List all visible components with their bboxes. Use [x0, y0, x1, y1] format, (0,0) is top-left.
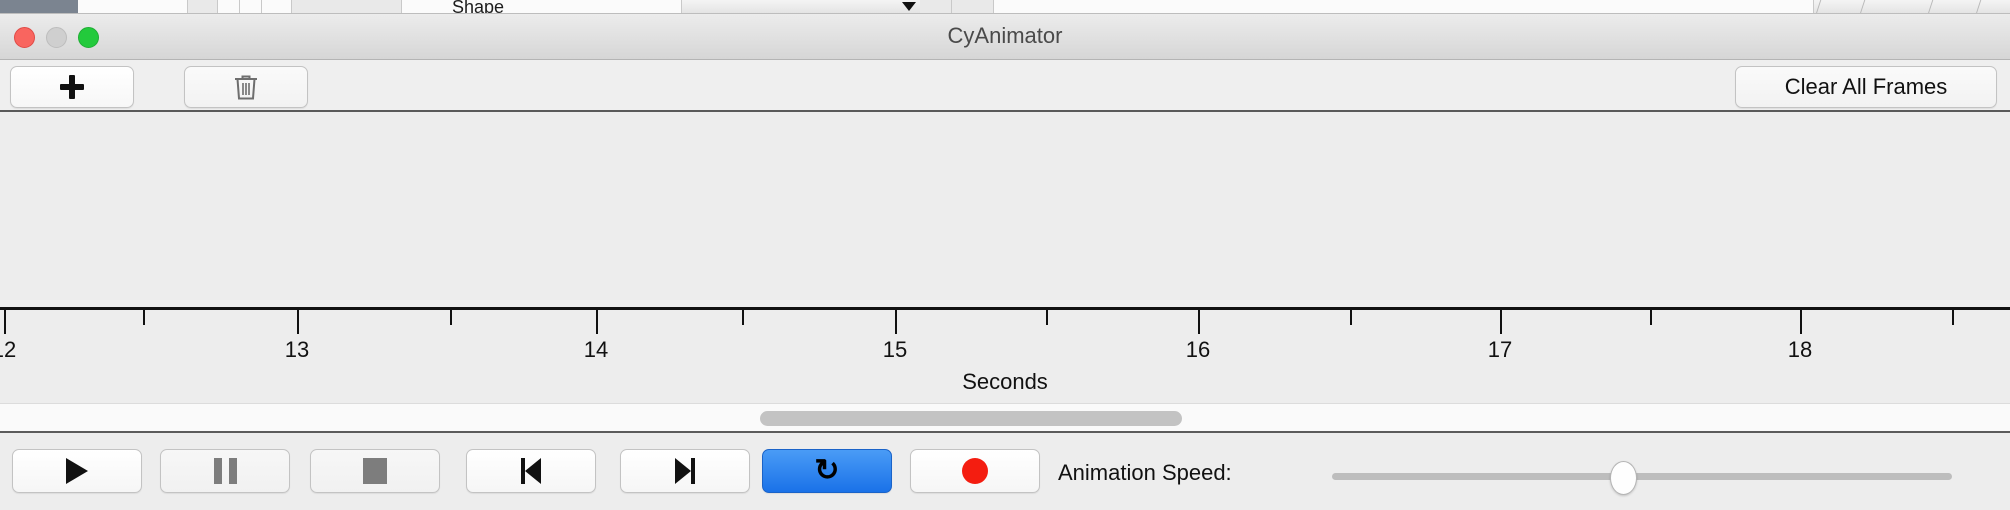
- ruler-tick-label: 15: [883, 337, 907, 363]
- animation-speed-label: Animation Speed:: [1058, 460, 1232, 486]
- trash-icon: [233, 73, 259, 101]
- ruler-tick: [596, 310, 598, 334]
- stop-button[interactable]: [310, 449, 440, 493]
- background-cell: [218, 0, 240, 14]
- background-divider: [1928, 0, 1934, 14]
- loop-icon: ↻: [814, 456, 839, 486]
- toolbar: Clear All Frames: [0, 60, 2010, 112]
- background-caret-icon: [902, 2, 916, 11]
- plus-icon: [60, 75, 84, 99]
- slider-track: [1332, 473, 1952, 480]
- background-window-label: Shape: [452, 0, 504, 14]
- stop-icon: [363, 458, 387, 484]
- background-cell: [262, 0, 292, 14]
- ruler-tick-label: 14: [584, 337, 608, 363]
- ruler-tick: [450, 310, 452, 325]
- background-divider: [1860, 0, 1866, 14]
- background-window-strip: Shape: [0, 0, 2010, 14]
- background-cell: [402, 0, 682, 14]
- skip-forward-icon: [675, 458, 695, 484]
- ruler-tick-label: 17: [1488, 337, 1512, 363]
- loop-button[interactable]: ↻: [762, 449, 892, 493]
- ruler-tick: [1350, 310, 1352, 325]
- record-icon: [962, 458, 988, 484]
- clear-all-frames-label: Clear All Frames: [1785, 74, 1948, 100]
- background-cell: [920, 0, 952, 14]
- delete-frame-button[interactable]: [184, 66, 308, 108]
- ruler-tick-label: 16: [1186, 337, 1210, 363]
- background-cell: [994, 0, 1814, 14]
- background-cell: [292, 0, 402, 14]
- playback-controls: ↻ Animation Speed:: [0, 435, 2010, 510]
- background-cell: [240, 0, 262, 14]
- ruler-tick: [1650, 310, 1652, 325]
- background-cell: [952, 0, 994, 14]
- ruler-tick: [895, 310, 897, 334]
- ruler-tick-label: 13: [285, 337, 309, 363]
- clear-all-frames-button[interactable]: Clear All Frames: [1735, 66, 1997, 108]
- record-button[interactable]: [910, 449, 1040, 493]
- ruler-tick: [1046, 310, 1048, 325]
- ruler-tick: [1952, 310, 1954, 325]
- ruler-tick-label: 18: [1788, 337, 1812, 363]
- ruler-baseline: [0, 307, 2010, 310]
- background-window-tab: [0, 0, 78, 14]
- frame-timeline[interactable]: MCM1: [0, 112, 2010, 307]
- ruler-axis-title: Seconds: [0, 369, 2010, 395]
- pause-button[interactable]: [160, 449, 290, 493]
- timeline-ruler: 12 13 14 15 16 17 18 Seconds: [0, 307, 2010, 403]
- background-divider: [1816, 0, 1822, 14]
- play-icon: [66, 458, 88, 484]
- ruler-tick: [1800, 310, 1802, 334]
- ruler-tick: [1198, 310, 1200, 334]
- ruler-tick-label: 12: [0, 337, 16, 363]
- skip-to-start-button[interactable]: [466, 449, 596, 493]
- background-divider: [1976, 0, 1982, 14]
- slider-thumb[interactable]: [1610, 461, 1637, 495]
- title-bar: CyAnimator: [0, 14, 2010, 60]
- window-title: CyAnimator: [0, 23, 2010, 49]
- skip-to-end-button[interactable]: [620, 449, 750, 493]
- ruler-tick: [143, 310, 145, 325]
- background-cell: [188, 0, 218, 14]
- play-button[interactable]: [12, 449, 142, 493]
- animation-speed-slider[interactable]: [1332, 465, 1952, 487]
- cyanimator-window: Shape CyAnimator: [0, 0, 2010, 510]
- ruler-tick: [297, 310, 299, 334]
- scrollbar-thumb[interactable]: [760, 411, 1182, 426]
- ruler-tick: [742, 310, 744, 325]
- background-cell: [78, 0, 188, 14]
- ruler-tick: [1500, 310, 1502, 334]
- horizontal-scrollbar[interactable]: [0, 403, 2010, 433]
- pause-icon: [214, 458, 237, 484]
- ruler-tick: [4, 310, 6, 334]
- skip-back-icon: [521, 458, 541, 484]
- add-frame-button[interactable]: [10, 66, 134, 108]
